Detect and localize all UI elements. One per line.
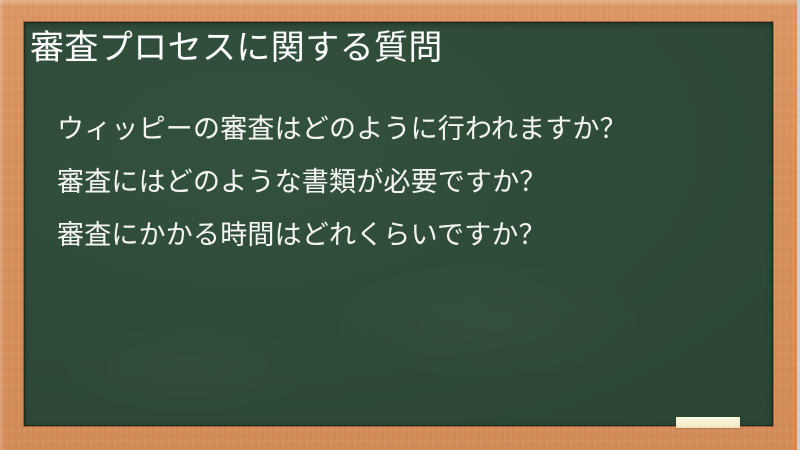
chalk-eraser-icon	[676, 417, 740, 428]
list-item: ウィッピーの審査はどのように行われますか？	[57, 103, 627, 156]
frame-top-highlight	[0, 0, 797, 7]
frame-left-highlight	[0, 0, 6, 450]
page-title: 審査プロセスに関する質問	[30, 25, 443, 71]
question-list: ウィッピーの審査はどのように行われますか？ 審査にはどのような書類が必要ですか？…	[57, 103, 627, 262]
list-item: 審査にかかる時間はどれくらいですか？	[57, 209, 627, 262]
list-item: 審査にはどのような書類が必要ですか？	[57, 156, 627, 209]
slide-canvas: 審査プロセスに関する質問 ウィッピーの審査はどのように行われますか？ 審査にはど…	[0, 0, 800, 450]
